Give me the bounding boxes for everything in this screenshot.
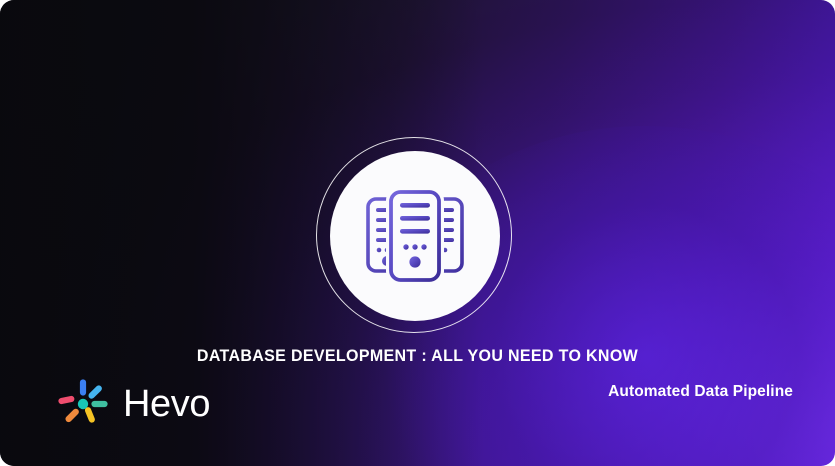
banner-headline: DATABASE DEVELOPMENT : ALL YOU NEED TO K… <box>13 347 823 366</box>
server-tower-center <box>390 191 441 282</box>
banner-tagline: Automated Data Pipeline <box>608 383 793 401</box>
server-racks-icon <box>361 185 469 287</box>
hevo-wordmark: Hevo <box>123 385 210 423</box>
promo-banner: DATABASE DEVELOPMENT : ALL YOU NEED TO K… <box>0 0 835 466</box>
hevo-logo-lockup: Hevo <box>57 378 210 430</box>
hevo-logo-center-dot <box>78 399 88 409</box>
hevo-pinwheel-logo-icon <box>57 378 109 430</box>
emblem <box>316 137 514 335</box>
